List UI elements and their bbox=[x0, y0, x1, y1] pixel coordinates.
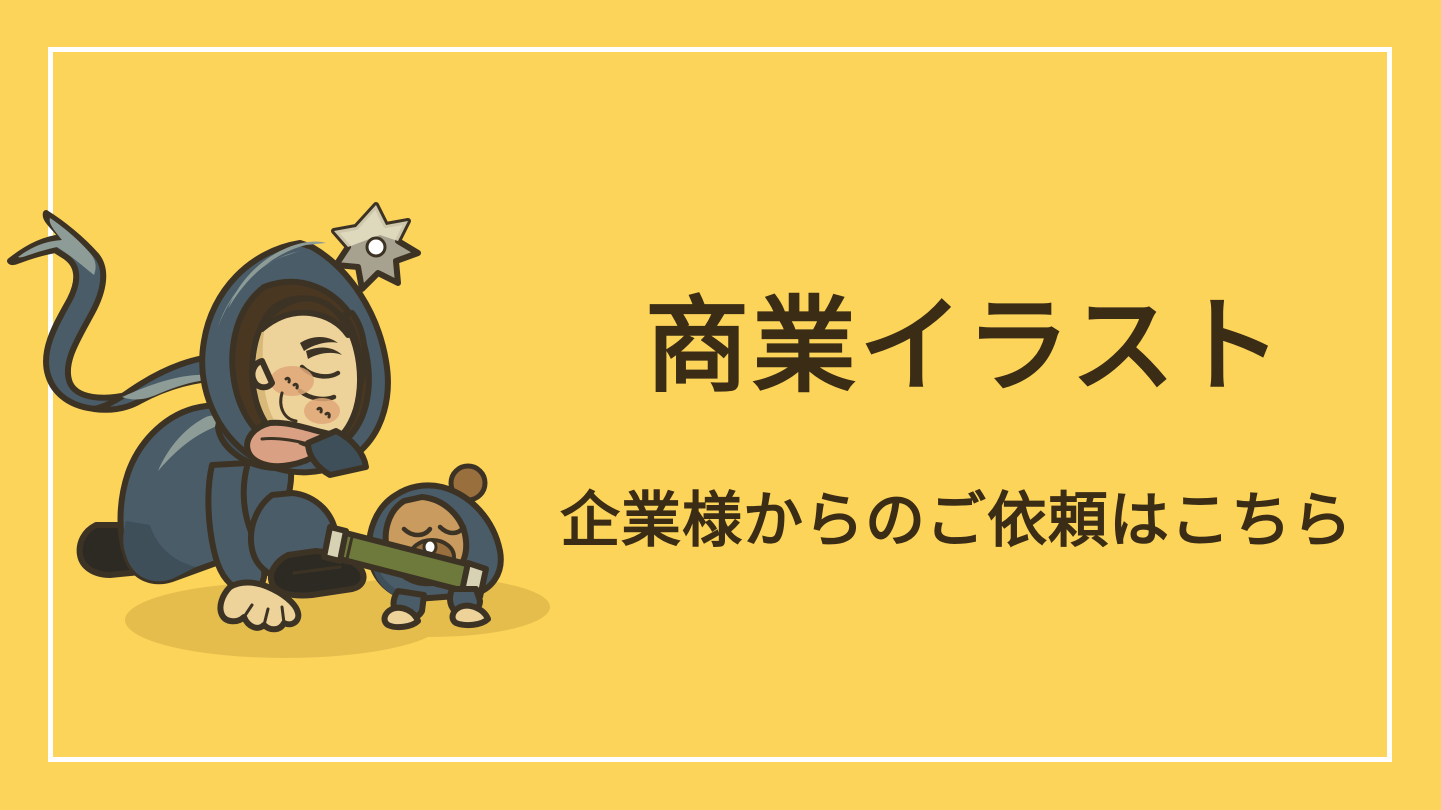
ninja-head bbox=[202, 205, 418, 475]
banner-root: .ol{stroke:#3D3325;stroke-width:6;stroke… bbox=[0, 0, 1441, 810]
scarf bbox=[10, 213, 232, 410]
text-block: 商業イラスト 企業様からのご依頼はこちら bbox=[540, 270, 1360, 590]
ninja-illustration: .ol{stroke:#3D3325;stroke-width:6;stroke… bbox=[0, 195, 600, 675]
page-subtitle: 企業様からのご依頼はこちら bbox=[560, 488, 1353, 554]
page-title: 商業イラスト bbox=[645, 292, 1285, 401]
